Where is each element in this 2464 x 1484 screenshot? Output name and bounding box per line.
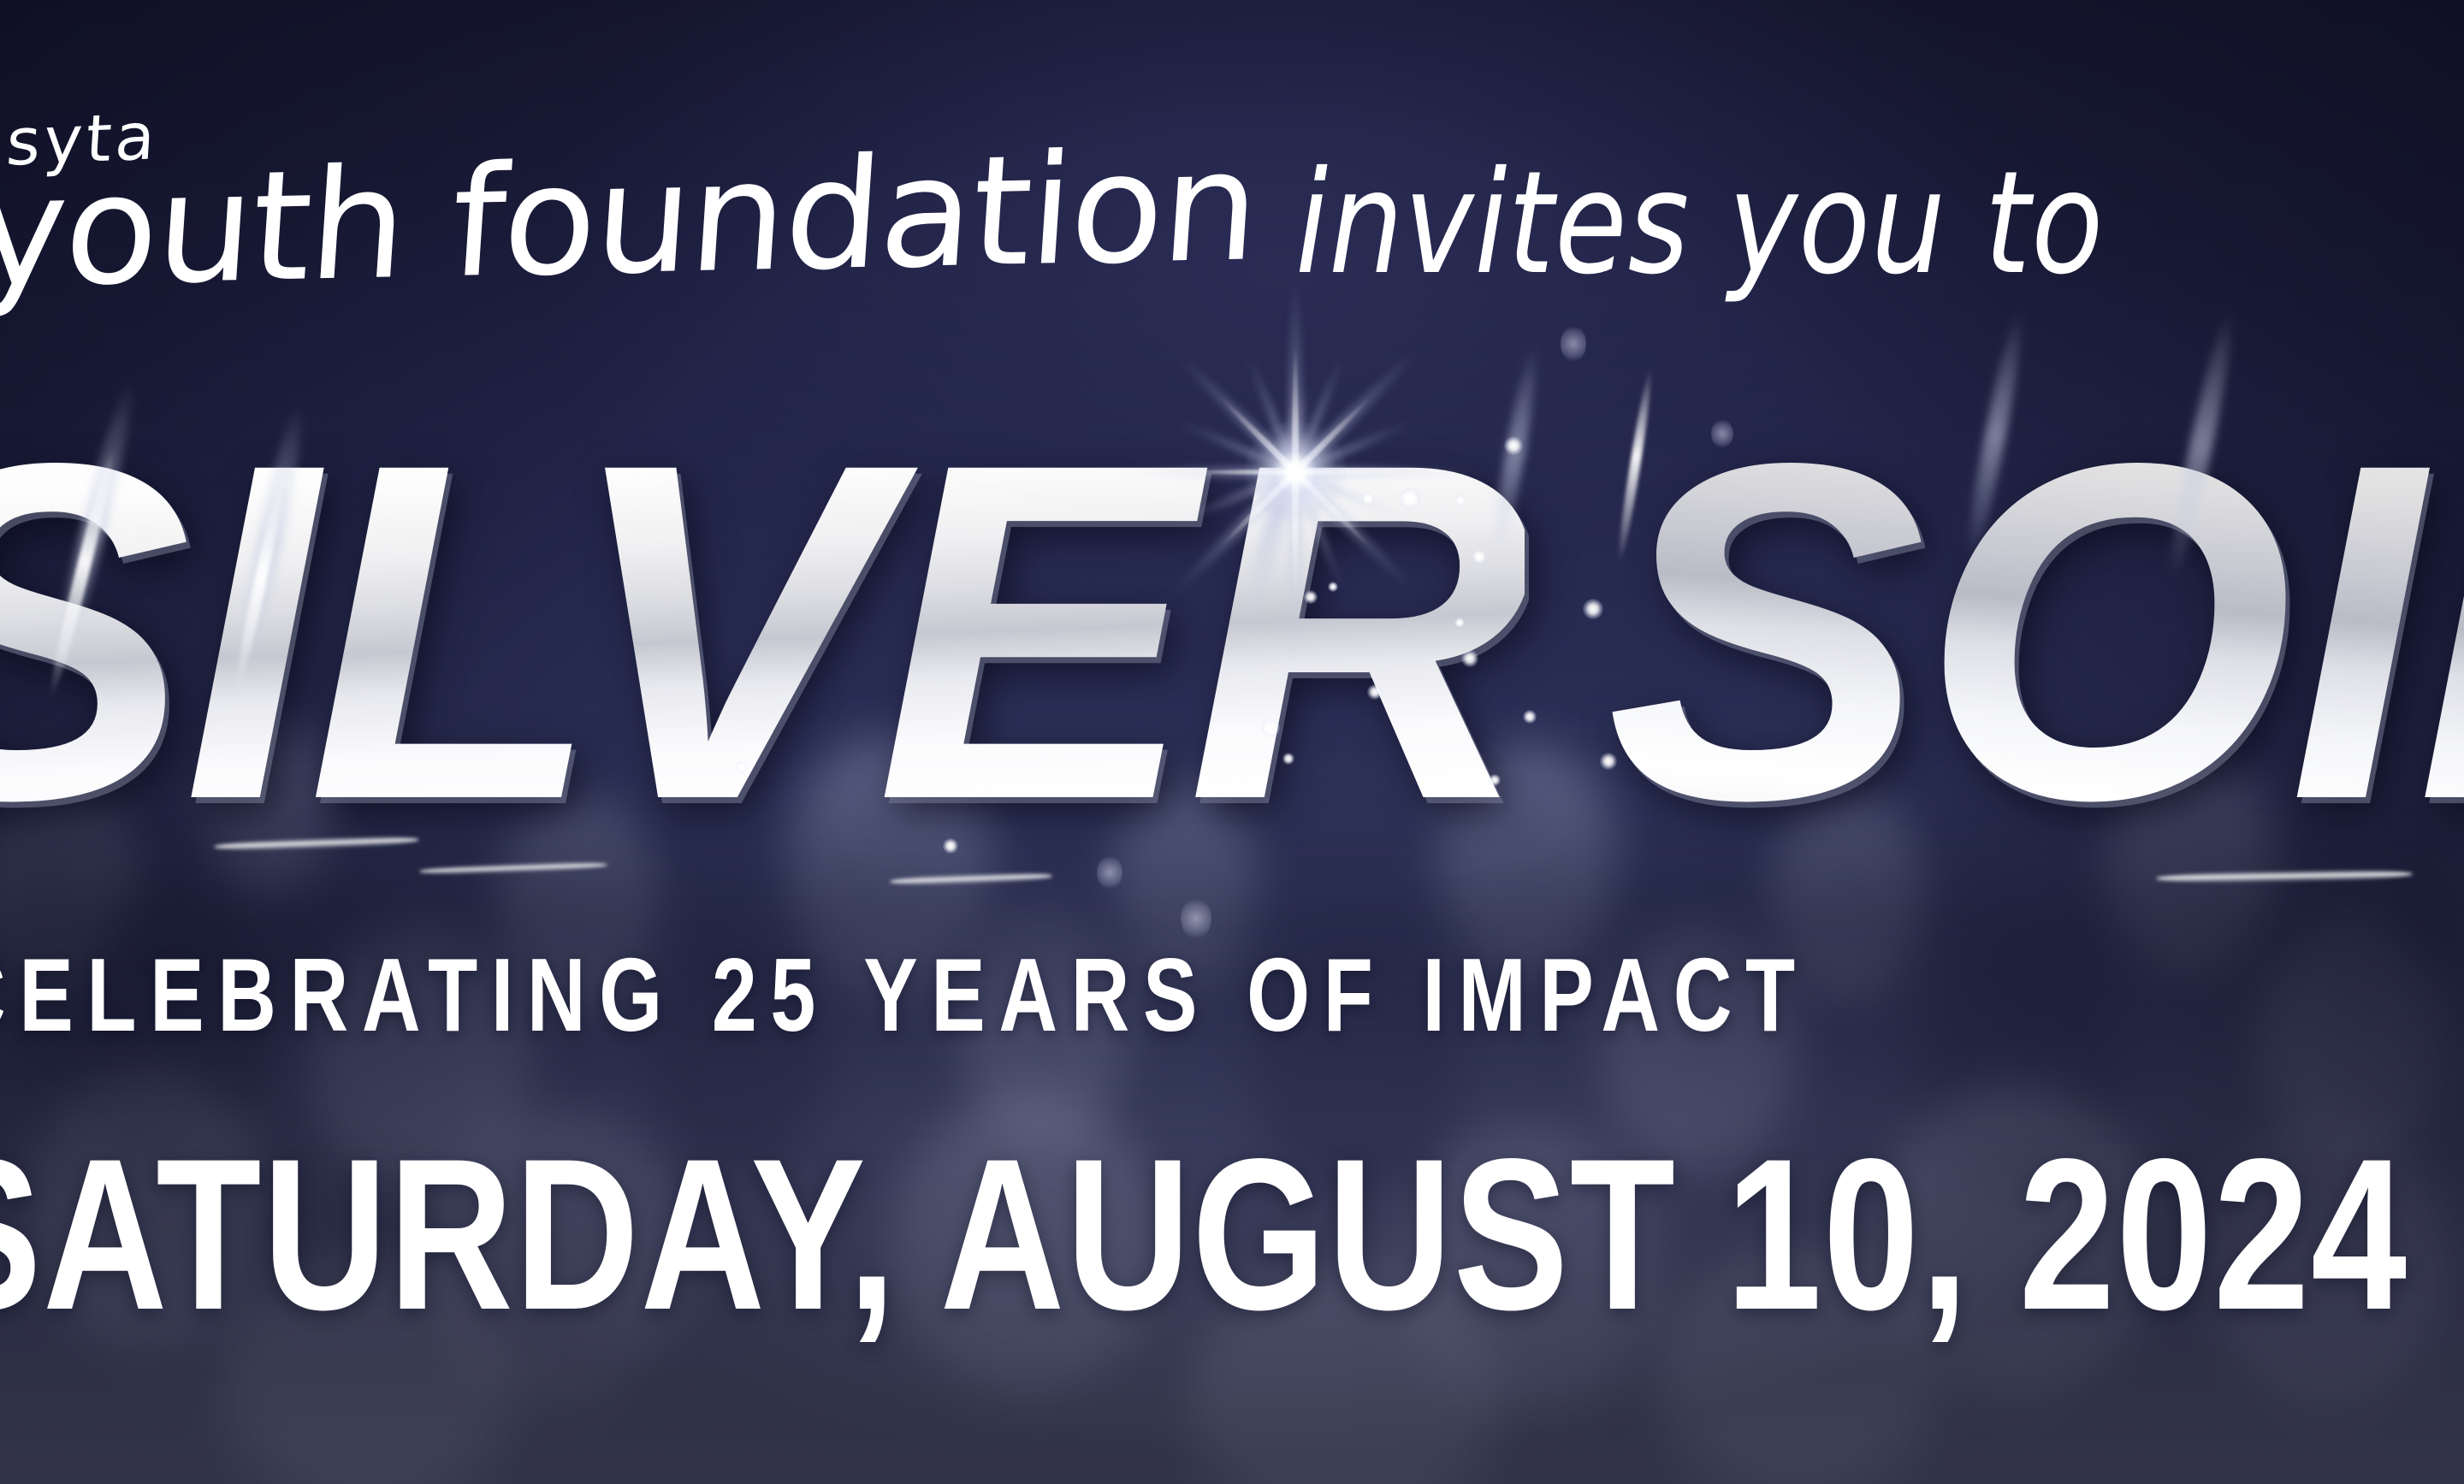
event-invitation-poster: syta youth foundation invites you to SIL… (0, 0, 2464, 1484)
invite-phrase-label: invites you to (1295, 153, 2104, 295)
headline-word-soiree: SOIREE (1607, 392, 2464, 871)
event-date-label: SATURDAY, AUGUST 10, 2024 (0, 1127, 2408, 1343)
tagline-label: CELEBRATING 25 YEARS OF IMPACT (0, 943, 1809, 1047)
invitation-line: youth foundation invites you to (0, 144, 2175, 296)
brand-youth-foundation-label: youth foundation (0, 130, 1263, 309)
headline-word-silver: SILVER (0, 392, 1525, 871)
headline-silver-soiree: SILVER SOIREE (0, 340, 2464, 922)
